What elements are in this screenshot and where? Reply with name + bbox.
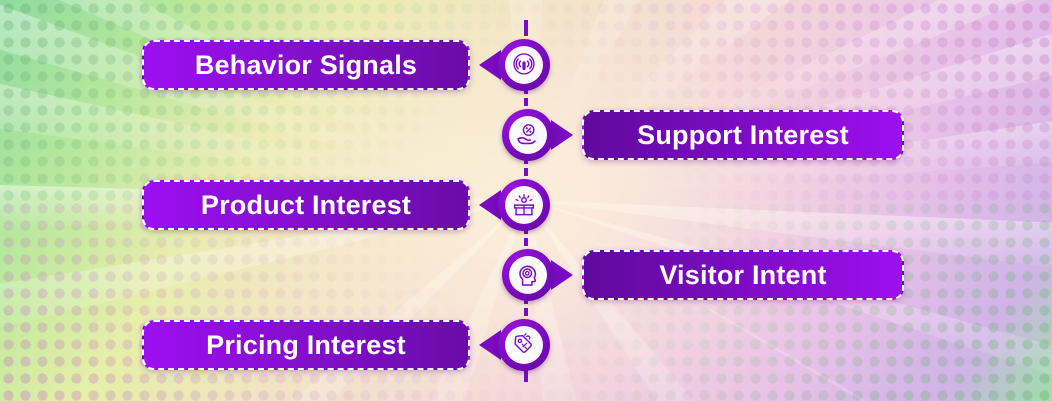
connector-top bbox=[524, 20, 528, 36]
badge-disc bbox=[509, 256, 547, 294]
label-pill-visitor-intent[interactable]: Visitor Intent bbox=[582, 250, 904, 300]
badge-disc bbox=[505, 326, 543, 364]
icon-badge-product-interest[interactable] bbox=[498, 179, 550, 231]
icon-badge-visitor-intent[interactable] bbox=[502, 249, 554, 301]
hand-percent-icon bbox=[515, 122, 541, 148]
label-text: Product Interest bbox=[201, 192, 411, 219]
label-text: Support Interest bbox=[637, 122, 849, 149]
label-text: Pricing Interest bbox=[206, 332, 406, 359]
row-pricing-interest: Pricing Interest bbox=[0, 316, 1052, 374]
row-support-interest: Support Interest bbox=[0, 106, 1052, 164]
head-gear-icon bbox=[515, 262, 541, 288]
signal-broadcast-icon bbox=[511, 52, 537, 78]
icon-badge-support-interest[interactable] bbox=[502, 109, 554, 161]
open-box-icon bbox=[511, 192, 537, 218]
label-pill-product-interest[interactable]: Product Interest bbox=[142, 180, 470, 230]
label-pill-pricing-interest[interactable]: Pricing Interest bbox=[142, 320, 470, 370]
label-pill-behavior-signals[interactable]: Behavior Signals bbox=[142, 40, 470, 90]
diagram-content: Behavior Signals bbox=[0, 0, 1052, 401]
price-tag-icon bbox=[511, 332, 537, 358]
label-text: Behavior Signals bbox=[195, 52, 417, 79]
icon-badge-behavior-signals[interactable] bbox=[498, 39, 550, 91]
row-product-interest: Product Interest bbox=[0, 176, 1052, 234]
label-text: Visitor Intent bbox=[659, 262, 826, 289]
icon-badge-pricing-interest[interactable] bbox=[498, 319, 550, 371]
badge-disc bbox=[505, 186, 543, 224]
row-behavior-signals: Behavior Signals bbox=[0, 36, 1052, 94]
label-pill-support-interest[interactable]: Support Interest bbox=[582, 110, 904, 160]
row-visitor-intent: Visitor Intent bbox=[0, 246, 1052, 304]
badge-disc bbox=[505, 46, 543, 84]
badge-disc bbox=[509, 116, 547, 154]
pointer-right-icon bbox=[551, 260, 573, 290]
infographic-canvas: Behavior Signals bbox=[0, 0, 1052, 401]
pointer-right-icon bbox=[551, 120, 573, 150]
